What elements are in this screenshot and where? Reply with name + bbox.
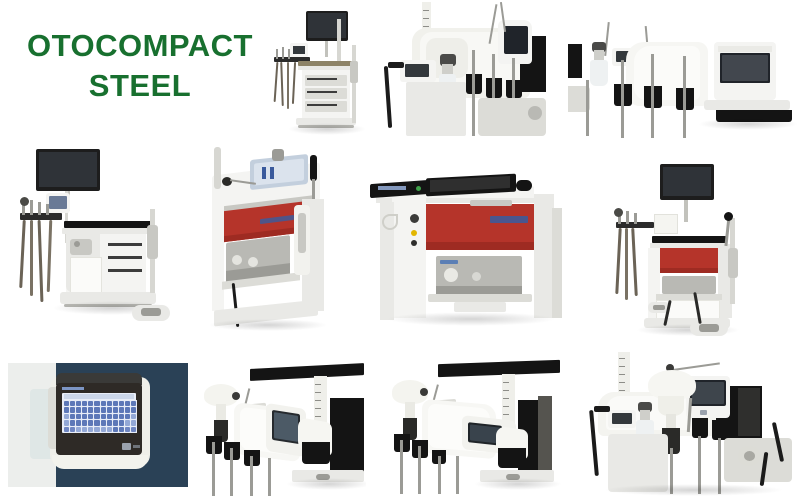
product-image-10[interactable] <box>378 356 568 498</box>
onscreen-keyboard[interactable] <box>63 400 137 433</box>
product-photo-7 <box>596 160 774 340</box>
product-image-3[interactable] <box>568 20 798 140</box>
product-photo-3 <box>568 20 798 140</box>
product-image-2[interactable] <box>382 2 572 138</box>
title-line-2: STEEL <box>20 66 260 106</box>
product-image-7[interactable] <box>596 160 774 340</box>
product-photo-10 <box>378 356 568 498</box>
product-photo-4 <box>8 145 190 337</box>
product-photo-8 <box>8 363 188 495</box>
title-line-1: OTOCOMPACT <box>20 26 260 66</box>
product-image-5[interactable] <box>198 143 346 337</box>
product-image-4[interactable] <box>8 145 190 337</box>
product-image-6[interactable] <box>366 168 568 332</box>
product-image-9[interactable] <box>196 358 366 498</box>
product-photo-6 <box>366 168 568 332</box>
product-photo-1 <box>262 5 382 135</box>
product-photo-2 <box>382 2 572 138</box>
product-image-11[interactable] <box>588 352 798 498</box>
product-image-1[interactable] <box>262 5 382 135</box>
product-image-8[interactable] <box>8 363 188 495</box>
product-photo-11 <box>588 352 798 498</box>
product-gallery-page: OTOCOMPACT STEEL <box>0 0 800 500</box>
product-photo-9 <box>196 358 366 498</box>
product-photo-5 <box>198 143 346 337</box>
page-title: OTOCOMPACT STEEL <box>20 26 260 107</box>
